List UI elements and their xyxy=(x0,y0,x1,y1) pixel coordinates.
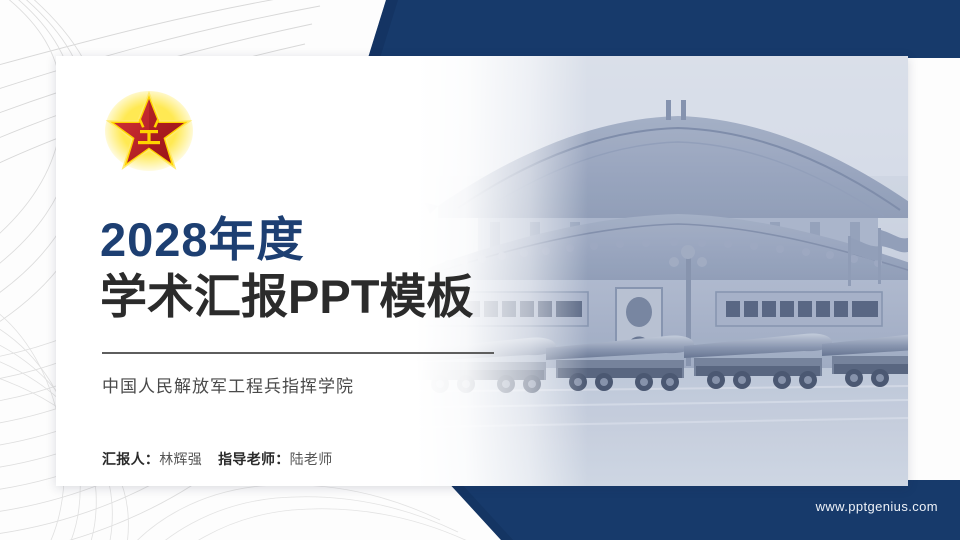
navy-top-band xyxy=(0,0,960,58)
presentation-slide: 2028年度 学术汇报PPT模板 中国人民解放军工程兵指挥学院 汇报人：林辉强指… xyxy=(0,0,960,540)
advisor-label: 指导老师： xyxy=(218,451,290,467)
slide-card: 2028年度 学术汇报PPT模板 中国人民解放军工程兵指挥学院 汇报人：林辉强指… xyxy=(56,56,908,486)
advisor-name: 陆老师 xyxy=(290,451,333,467)
title-divider xyxy=(102,352,494,354)
slide-subtitle-organization: 中国人民解放军工程兵指挥学院 xyxy=(102,372,354,397)
pla-star-emblem-icon xyxy=(103,89,195,177)
slide-title-year: 2028年度 xyxy=(100,216,305,263)
slide-title-main: 学术汇报PPT模板 xyxy=(100,273,473,320)
presenter-label: 汇报人： xyxy=(102,451,159,467)
presenter-line: 汇报人：林辉强指导老师：陆老师 xyxy=(102,449,333,469)
website-url: www.pptgenius.com xyxy=(816,499,938,514)
slide-text-content: 2028年度 学术汇报PPT模板 中国人民解放军工程兵指挥学院 汇报人：林辉强指… xyxy=(56,56,516,486)
presenter-name: 林辉强 xyxy=(159,451,202,467)
